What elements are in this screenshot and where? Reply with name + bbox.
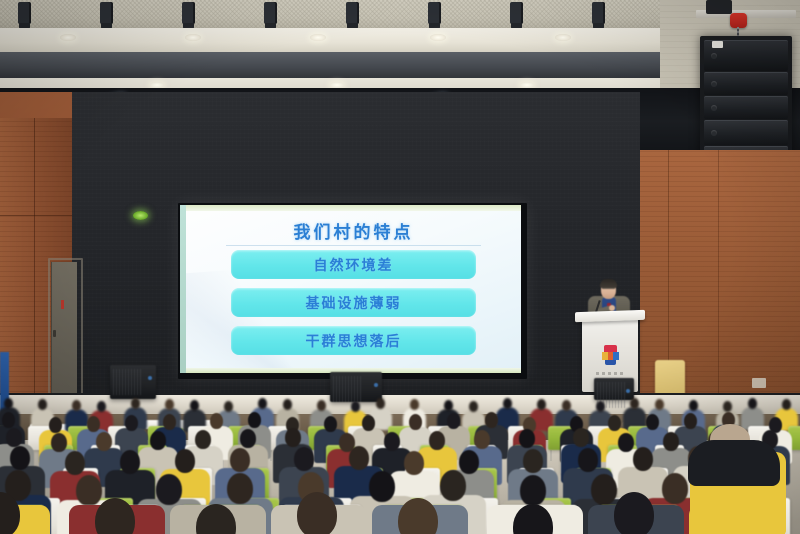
audience-person-head bbox=[230, 448, 250, 472]
audience-person-head bbox=[283, 399, 292, 410]
audience-person-head bbox=[630, 398, 639, 409]
wall-outlet bbox=[752, 378, 766, 388]
presenter-hair bbox=[600, 279, 617, 288]
audience-person-head bbox=[125, 415, 138, 431]
audience-person-head bbox=[6, 428, 22, 447]
chair-leg bbox=[550, 450, 552, 461]
exit-indicator-icon bbox=[133, 211, 148, 220]
emblem-part bbox=[605, 360, 616, 365]
ceiling-spotlight-icon bbox=[592, 2, 605, 24]
audience-person-head bbox=[520, 475, 546, 506]
audience-person-head bbox=[662, 473, 688, 504]
audience-person-head bbox=[503, 398, 512, 409]
hoist-motor bbox=[706, 0, 732, 14]
slide-title-divider bbox=[226, 245, 481, 246]
audience-person-head bbox=[240, 429, 256, 448]
stage-monitor-speaker bbox=[594, 378, 634, 400]
audience-person-head bbox=[748, 398, 757, 409]
downlight-icon bbox=[430, 34, 446, 41]
audience-person-head bbox=[150, 431, 166, 450]
audience-person-head bbox=[573, 428, 589, 447]
audience-person-head bbox=[175, 449, 195, 473]
audience-person-hood bbox=[688, 440, 780, 486]
slide-title: 我们村的特点 bbox=[186, 218, 521, 243]
slide-bullet-1-label: 自然环境差 bbox=[314, 255, 394, 275]
audience-person-head bbox=[655, 399, 664, 410]
wood-seam bbox=[0, 215, 72, 216]
audience-person-head bbox=[165, 399, 174, 410]
audience-person-head bbox=[195, 430, 211, 449]
audience-person-head bbox=[87, 416, 100, 432]
audience-person-head bbox=[369, 471, 395, 502]
audience-person-head bbox=[210, 413, 223, 429]
audience-person-head bbox=[404, 451, 424, 475]
downlight-icon bbox=[310, 34, 326, 41]
ceiling-spotlight-icon bbox=[264, 2, 277, 24]
ceiling-spotlight-icon bbox=[182, 2, 195, 24]
audience-person-head bbox=[190, 400, 199, 411]
speaker-grille bbox=[113, 369, 143, 395]
audience-person-head bbox=[633, 447, 653, 471]
audience-person-head bbox=[596, 401, 605, 412]
audience-person-head bbox=[376, 398, 385, 409]
audience-person-head bbox=[294, 447, 314, 471]
audience-person-head bbox=[459, 450, 479, 474]
audience-person-head bbox=[646, 414, 659, 430]
audience-person-head bbox=[523, 449, 543, 473]
audience-person-head bbox=[163, 414, 176, 430]
ceiling-spotlight-icon bbox=[100, 2, 113, 24]
projected-slide: 我们村的特点 自然环境差 基础设施薄弱 干群思想落后 bbox=[186, 205, 521, 373]
door-handle[interactable] bbox=[53, 330, 56, 337]
audience-person-head bbox=[429, 431, 445, 450]
audience-person-head bbox=[562, 400, 571, 411]
audience-person-head bbox=[362, 415, 375, 431]
slide-bullet-2-label: 基础设施薄弱 bbox=[306, 293, 402, 313]
audience-person-head bbox=[519, 429, 535, 448]
audience-person-head bbox=[51, 433, 67, 452]
audience-person-head bbox=[351, 401, 360, 412]
podium-emblem bbox=[602, 345, 619, 367]
line-array-box bbox=[704, 72, 788, 95]
audience-person-head bbox=[384, 432, 400, 451]
audience-person-head bbox=[444, 400, 453, 411]
ceiling-spotlight-icon bbox=[346, 2, 359, 24]
audience-person-head bbox=[447, 413, 460, 429]
stage-monitor-speaker bbox=[330, 372, 382, 402]
audience-person-head bbox=[97, 401, 106, 412]
line-array-box bbox=[704, 96, 788, 119]
audience-person-head bbox=[317, 400, 326, 411]
audience-person-head bbox=[614, 492, 654, 534]
audience-person-head bbox=[578, 448, 598, 472]
audience-person-head bbox=[96, 432, 112, 451]
audience-person-head bbox=[440, 470, 466, 501]
audience-person-head bbox=[349, 446, 369, 470]
audience-person-head bbox=[38, 399, 47, 410]
audience-person-head bbox=[131, 398, 140, 409]
audience-person-head bbox=[2, 412, 15, 428]
audience-person-head bbox=[324, 416, 337, 432]
slide-bullet-3-label: 干群思想落后 bbox=[306, 331, 402, 351]
audience-person-head bbox=[156, 474, 182, 505]
slide-bullet-list: 自然环境差 基础设施薄弱 干群思想落后 bbox=[186, 250, 521, 364]
wood-seam bbox=[34, 118, 35, 422]
audience-person-head bbox=[227, 473, 253, 504]
audience-person-head bbox=[76, 475, 102, 506]
audience-person-head bbox=[485, 412, 498, 428]
audience-person-head bbox=[723, 401, 732, 412]
downlight-icon bbox=[555, 34, 571, 41]
audience-person-head bbox=[689, 400, 698, 411]
ceiling-spotlight-icon bbox=[510, 2, 523, 24]
speaker-grille bbox=[333, 376, 363, 402]
glasses-icon bbox=[602, 288, 615, 292]
audience-person-head bbox=[469, 401, 478, 412]
line-array-box bbox=[704, 120, 788, 145]
audience-person-head bbox=[4, 398, 13, 409]
podium-text-line bbox=[596, 372, 624, 375]
audience-person-head bbox=[663, 432, 679, 451]
audience-person-head bbox=[537, 399, 546, 410]
audience-person-head bbox=[608, 415, 621, 431]
audience-person-head bbox=[258, 398, 267, 409]
audience-person-head bbox=[591, 474, 617, 505]
audience-person-head bbox=[297, 492, 337, 534]
audience-person-head bbox=[410, 399, 419, 410]
door-red-marker bbox=[61, 300, 64, 309]
slide-bullet-3: 干群思想落后 bbox=[231, 326, 476, 355]
downlight-icon bbox=[185, 34, 201, 41]
audience-person-head bbox=[474, 430, 490, 449]
audience-person-head bbox=[72, 400, 81, 411]
stage-monitor-speaker bbox=[110, 365, 156, 399]
audience-person-head bbox=[409, 414, 422, 430]
audience-person-head bbox=[10, 446, 30, 470]
ceiling-spotlight-icon bbox=[18, 2, 31, 24]
slide-bullet-2: 基础设施薄弱 bbox=[231, 288, 476, 317]
audience-person-head bbox=[618, 433, 634, 452]
audience-person-head bbox=[65, 451, 85, 475]
audience-person-head bbox=[684, 413, 697, 429]
wood-seam bbox=[718, 150, 719, 422]
ceiling-spotlight-icon bbox=[428, 2, 441, 24]
audience-person-head bbox=[49, 417, 62, 433]
audience-person-head bbox=[224, 401, 233, 412]
array-label-tag bbox=[712, 41, 723, 48]
audience-person-head bbox=[120, 450, 140, 474]
audience-person-head bbox=[285, 428, 301, 447]
emblem-part bbox=[613, 352, 619, 360]
auditorium-photo: 我们村的特点 自然环境差 基础设施薄弱 干群思想落后 bbox=[0, 0, 800, 534]
screen-top-band bbox=[186, 205, 521, 211]
downlight-icon bbox=[60, 34, 76, 41]
audience-person-head bbox=[782, 399, 791, 410]
chain-hoist-icon bbox=[730, 13, 747, 28]
audience-person-head bbox=[248, 412, 261, 428]
slide-bullet-1: 自然环境差 bbox=[231, 250, 476, 279]
